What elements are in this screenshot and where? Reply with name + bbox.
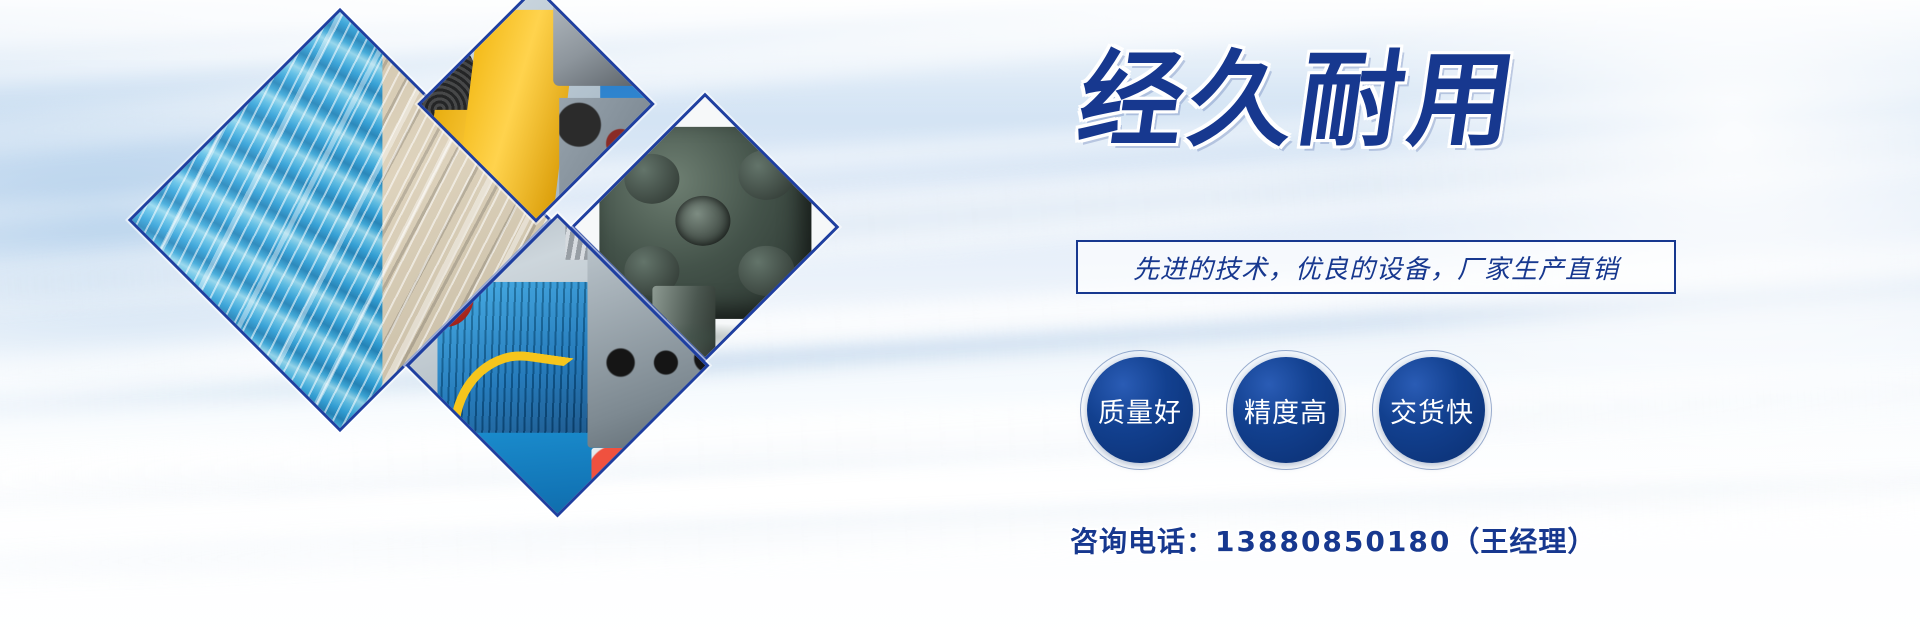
promo-banner: 经久耐用 先进的技术，优良的设备，厂家生产直销 质量好 精度高 交货快 xyxy=(0,0,1920,640)
feature-badge-circle: 质量好 xyxy=(1087,357,1193,463)
page-title: 经久耐用 xyxy=(1073,48,1528,152)
contact-label: 咨询电话： xyxy=(1070,525,1215,558)
feature-badge-delivery[interactable]: 交货快 xyxy=(1372,350,1492,470)
contact-person: （王经理） xyxy=(1451,525,1596,558)
diamond-photo-collage xyxy=(150,10,850,630)
feature-badge-circle: 精度高 xyxy=(1233,357,1339,463)
subtitle-text: 先进的技术，优良的设备，厂家生产直销 xyxy=(1133,249,1619,286)
gear-pump-hub xyxy=(675,197,730,247)
gear-pump-bolt-lobe xyxy=(739,247,794,297)
subtitle-box: 先进的技术，优良的设备，厂家生产直销 xyxy=(1076,240,1676,294)
pump-metal-housing xyxy=(553,0,640,86)
banner-content: 经久耐用 先进的技术，优良的设备，厂家生产直销 质量好 精度高 交货快 xyxy=(1060,0,1760,640)
motor-station-red-ports xyxy=(591,448,709,517)
gear-pump-bolt-lobe xyxy=(624,155,679,205)
feature-badge-list: 质量好 精度高 交货快 xyxy=(1080,350,1492,470)
feature-badge-label: 质量好 xyxy=(1098,391,1182,430)
contact-phone-line[interactable]: 咨询电话：13880850180（王经理） xyxy=(1070,520,1596,560)
feature-badge-quality[interactable]: 质量好 xyxy=(1080,350,1200,470)
feature-badge-circle: 交货快 xyxy=(1379,357,1485,463)
gear-pump-bolt-lobe xyxy=(739,151,794,201)
feature-badge-label: 精度高 xyxy=(1244,391,1328,430)
feature-badge-label: 交货快 xyxy=(1390,391,1474,430)
feature-badge-precision[interactable]: 精度高 xyxy=(1226,350,1346,470)
contact-phone-number[interactable]: 13880850180 xyxy=(1215,525,1451,558)
